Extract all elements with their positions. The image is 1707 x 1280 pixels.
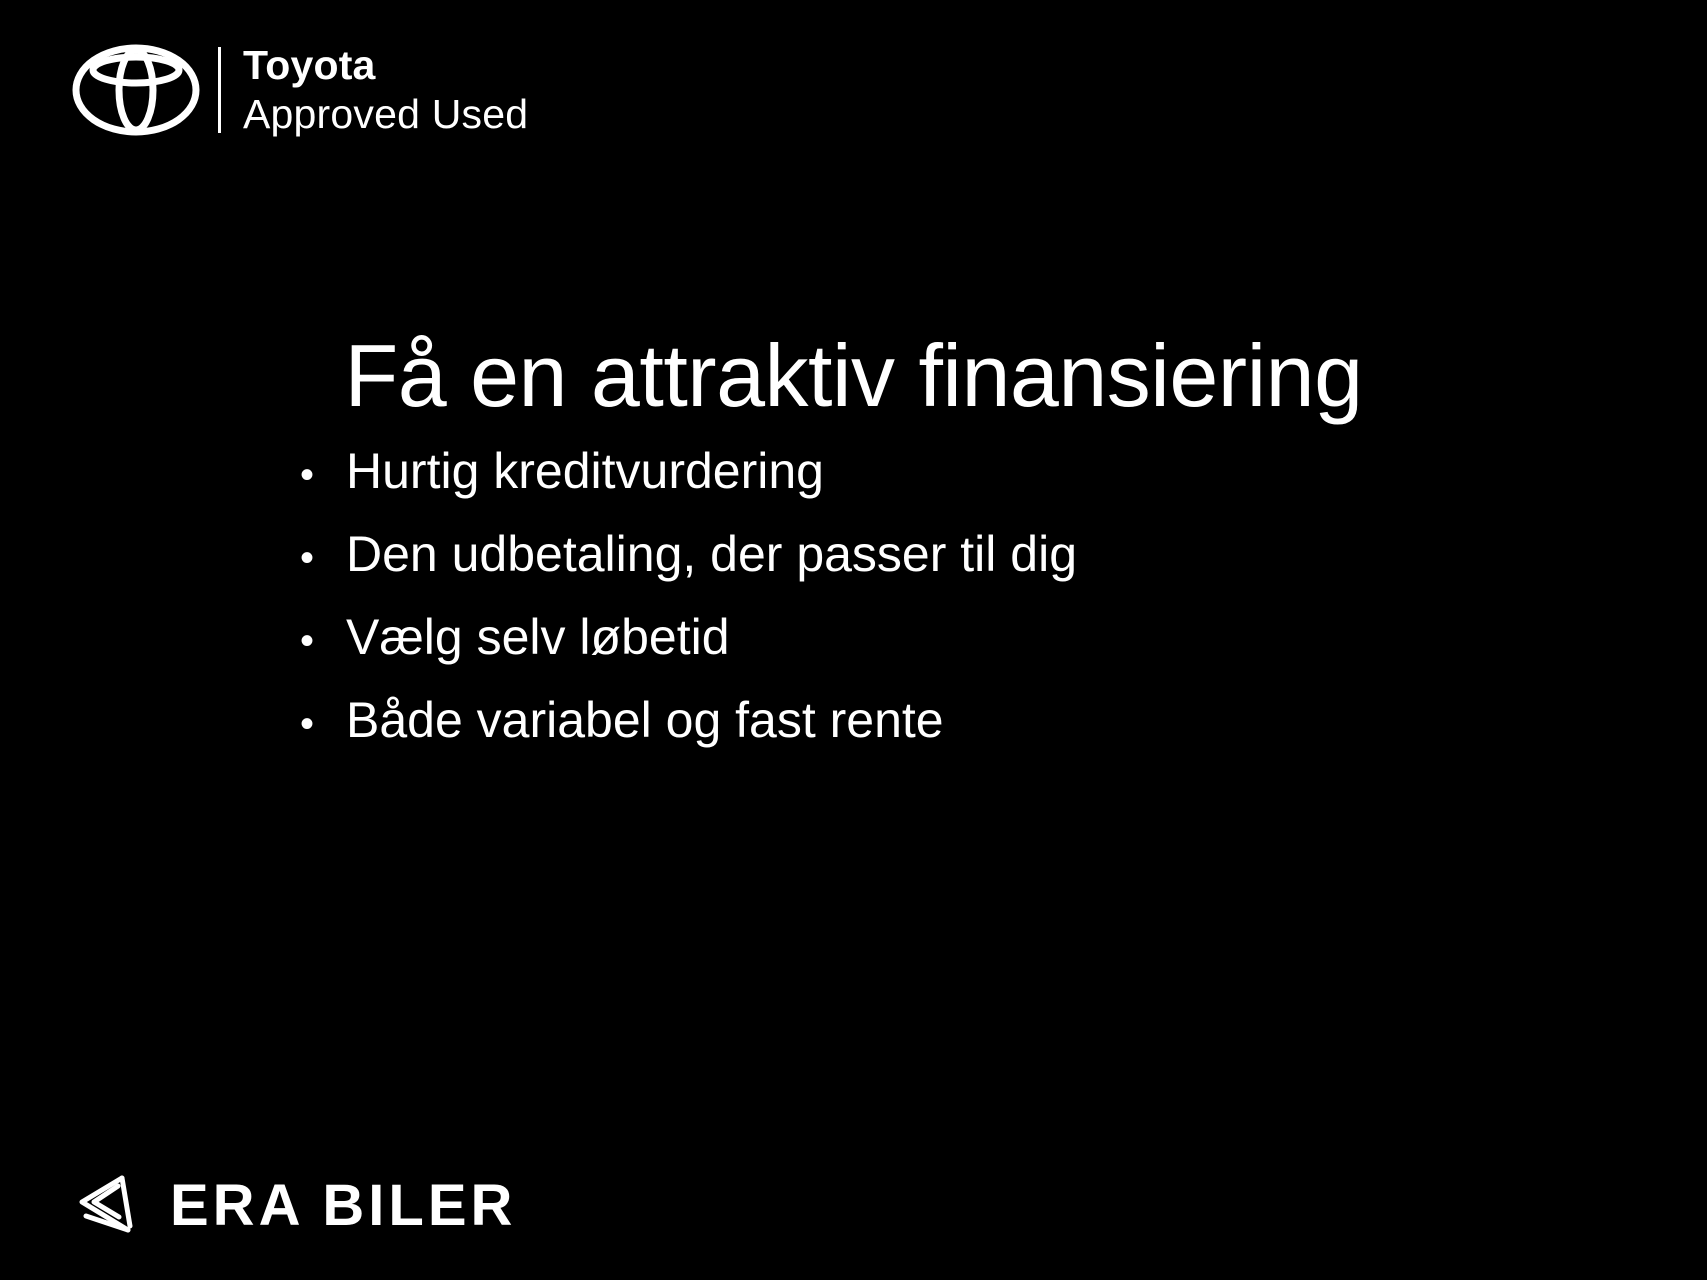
list-item: • Hurtig kreditvurdering [300, 446, 1180, 496]
list-item-label: Den udbetaling, der passer til dig [346, 529, 1180, 579]
list-item-label: Hurtig kreditvurdering [346, 446, 1180, 496]
toyota-approved-used-lockup: Toyota Approved Used [72, 44, 528, 136]
brand-wordmark: Toyota Approved Used [243, 45, 528, 135]
bullet-point-icon: • [300, 621, 346, 661]
slide-root: { "slide": { "background_color": "#00000… [0, 0, 1707, 1280]
benefits-list: • Hurtig kreditvurdering • Den udbetalin… [300, 446, 1180, 745]
list-item: • Både variabel og fast rente [300, 695, 1180, 745]
era-biler-lockup: ERA BILER [72, 1170, 516, 1242]
era-triangle-swirl-icon [72, 1170, 144, 1242]
list-item: • Den udbetaling, der passer til dig [300, 529, 1180, 579]
toyota-emblem-icon [72, 44, 200, 136]
dealer-wordmark: ERA BILER [170, 1177, 516, 1235]
list-item: • Vælg selv løbetid [300, 612, 1180, 662]
brand-divider [218, 47, 221, 133]
page-title: Få en attraktiv finansiering [0, 330, 1707, 422]
brand-line-toyota: Toyota [243, 45, 528, 86]
bullet-point-icon: • [300, 538, 346, 578]
list-item-label: Både variabel og fast rente [346, 695, 1180, 745]
bullet-point-icon: • [300, 455, 346, 495]
brand-line-approved-used: Approved Used [243, 94, 528, 135]
bullet-point-icon: • [300, 704, 346, 744]
list-item-label: Vælg selv løbetid [346, 612, 1180, 662]
slide-content: Få en attraktiv finansiering • Hurtig kr… [0, 330, 1707, 778]
